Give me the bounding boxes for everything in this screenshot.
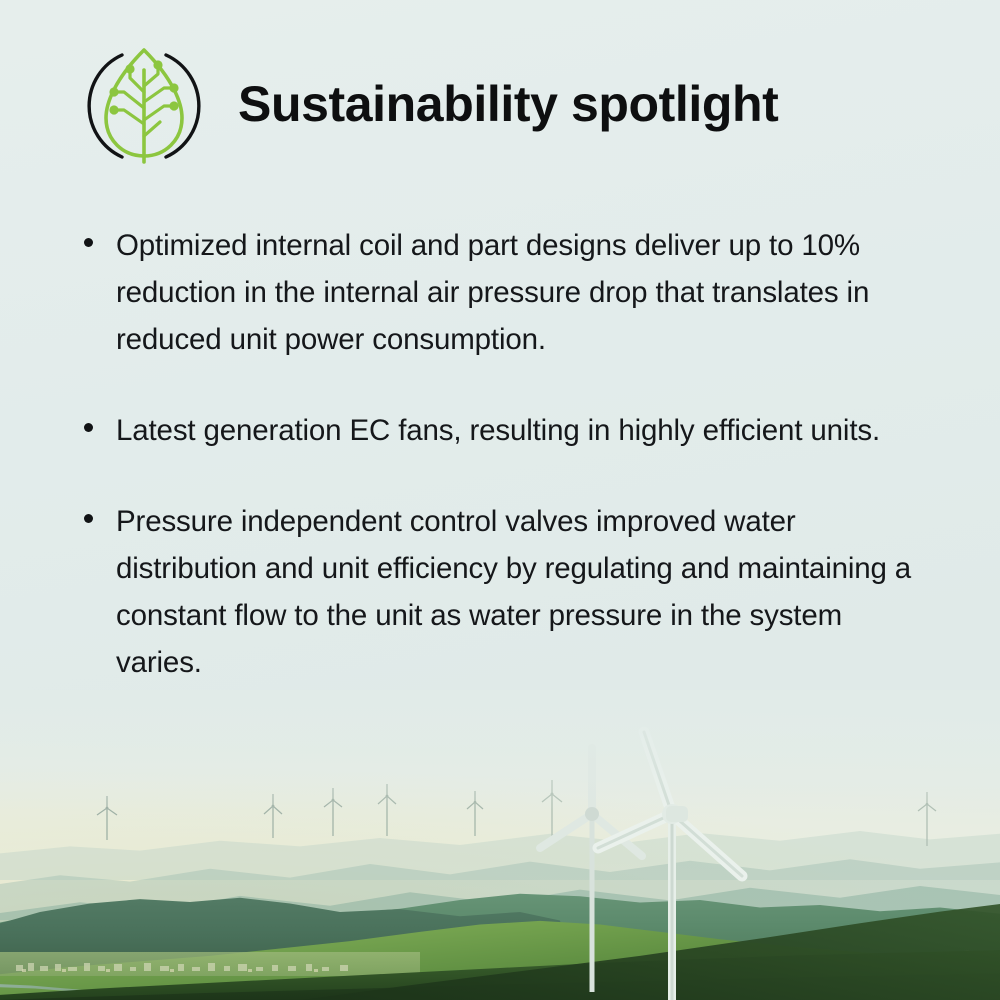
header: Sustainability spotlight — [78, 40, 778, 172]
list-item-text: Optimized internal coil and part designs… — [116, 222, 918, 363]
bullet-dot-icon — [84, 238, 93, 247]
list-item-text: Latest generation EC fans, resulting in … — [116, 407, 918, 454]
wind-farm-photo — [0, 690, 1000, 1000]
leaf-circuit-icon — [78, 40, 210, 172]
bullet-dot-icon — [84, 514, 93, 523]
list-item: Latest generation EC fans, resulting in … — [78, 407, 918, 454]
list-item: Pressure independent control valves impr… — [78, 498, 918, 686]
bullet-list: Optimized internal coil and part designs… — [78, 222, 918, 686]
bullet-dot-icon — [84, 423, 93, 432]
sustainability-spotlight-card: Sustainability spotlight Optimized inter… — [0, 0, 1000, 1000]
photo-top-fade — [0, 690, 1000, 810]
list-item-text: Pressure independent control valves impr… — [116, 498, 918, 686]
list-item: Optimized internal coil and part designs… — [78, 222, 918, 363]
valley-village — [10, 956, 370, 978]
page-title: Sustainability spotlight — [238, 79, 778, 133]
